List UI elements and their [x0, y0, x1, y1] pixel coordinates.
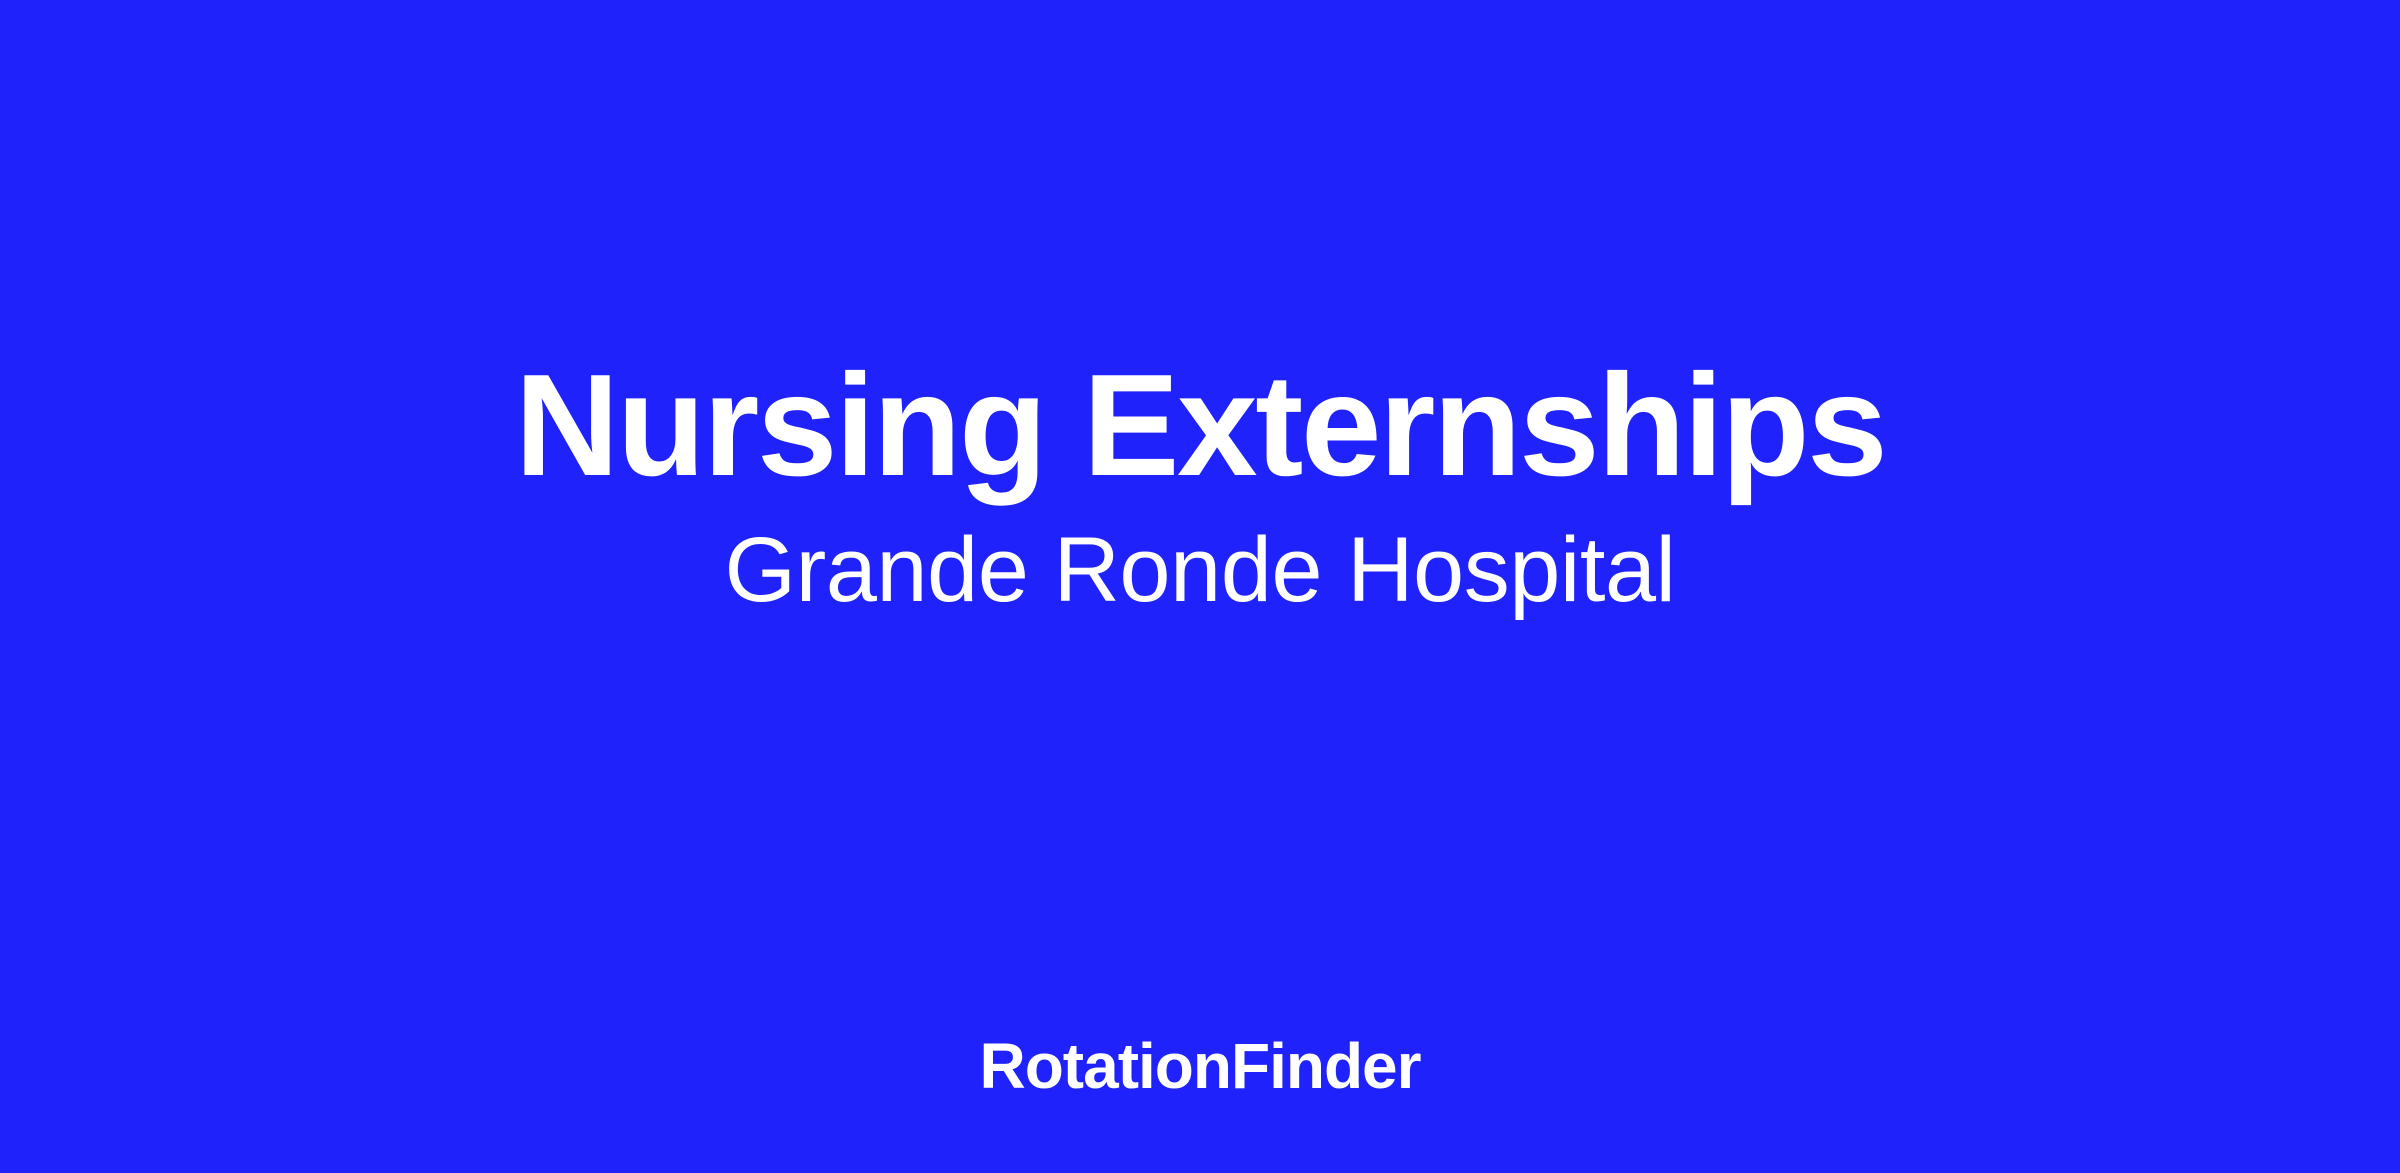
page-title: Nursing Externships: [515, 352, 1886, 500]
brand-wordmark: RotationFinder: [979, 1034, 1420, 1098]
footer: RotationFinder: [0, 1034, 2400, 1098]
title-card: Nursing Externships Grande Ronde Hospita…: [0, 0, 2400, 1173]
hero-block: Nursing Externships Grande Ronde Hospita…: [0, 352, 2400, 618]
page-subtitle: Grande Ronde Hospital: [725, 522, 1676, 619]
